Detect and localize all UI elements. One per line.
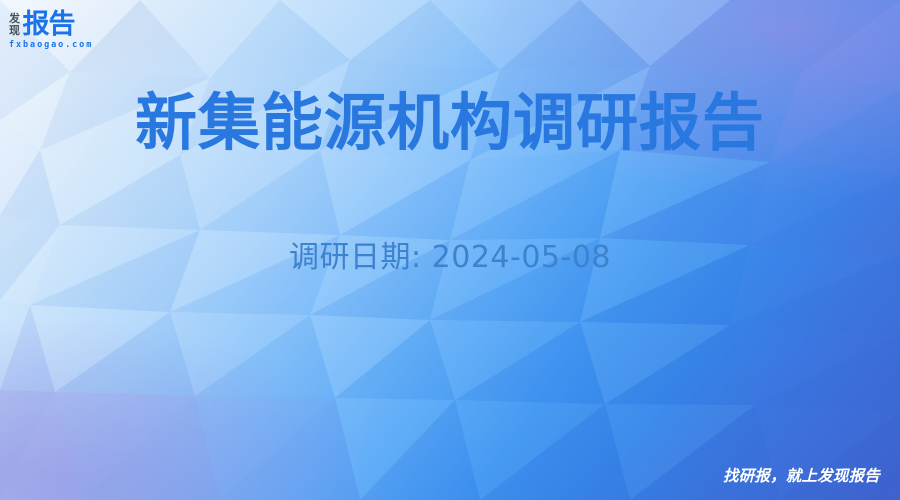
logo-mark-row: 发 现 报告 [9,10,117,38]
survey-date: 调研日期: 2024-05-08 [0,232,900,276]
footer-slogan: 找研报，就上发现报告 [723,464,880,486]
logo-wordmark: 报告 [23,11,75,38]
logo-mark-stack: 发 现 [9,14,20,38]
report-cover: 发 现 报告 fxbaogao.com 新集能源机构调研报告 调研日期: 202… [0,0,900,500]
page-title: 新集能源机构调研报告 [0,88,900,157]
logo-domain: fxbaogao.com [9,40,117,50]
title-block: 新集能源机构调研报告 [0,88,900,157]
brand-logo[interactable]: 发 现 报告 fxbaogao.com [9,10,117,50]
logo-mark-top: 发 [9,14,20,25]
logo-mark-bottom: 现 [9,26,20,37]
